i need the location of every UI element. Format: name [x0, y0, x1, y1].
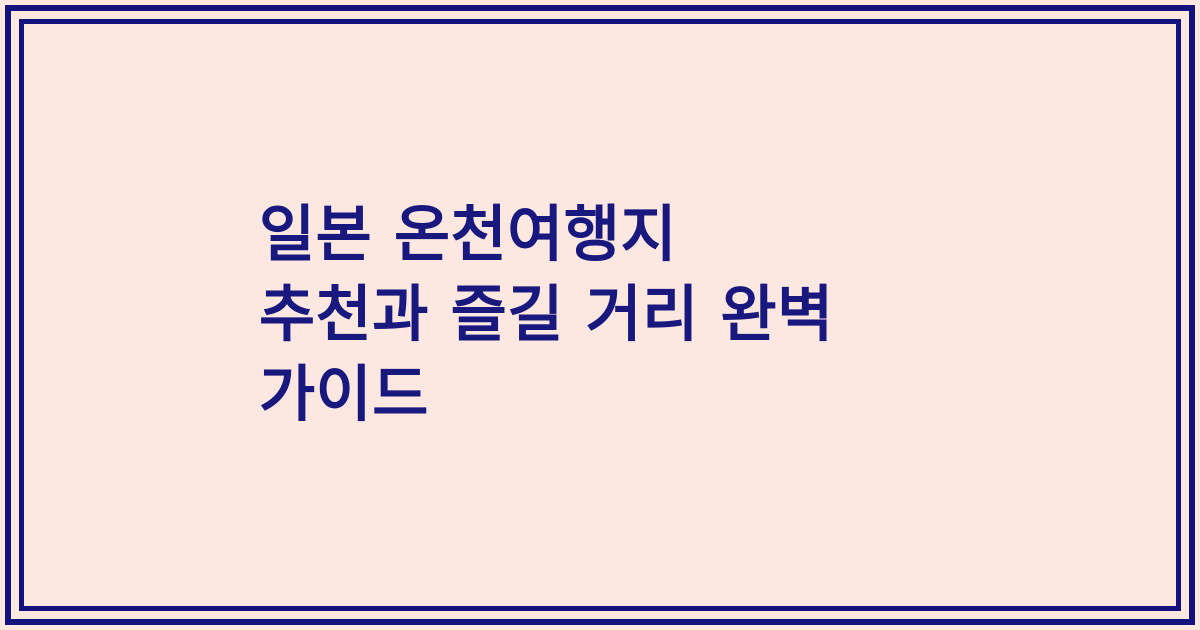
- banner-card: 일본 온천여행지 추천과 즐길 거리 완벽 가이드: [0, 0, 1200, 630]
- banner-content: 일본 온천여행지 추천과 즐길 거리 완벽 가이드: [19, 19, 1181, 611]
- page-title: 일본 온천여행지 추천과 즐길 거리 완벽 가이드: [259, 195, 834, 435]
